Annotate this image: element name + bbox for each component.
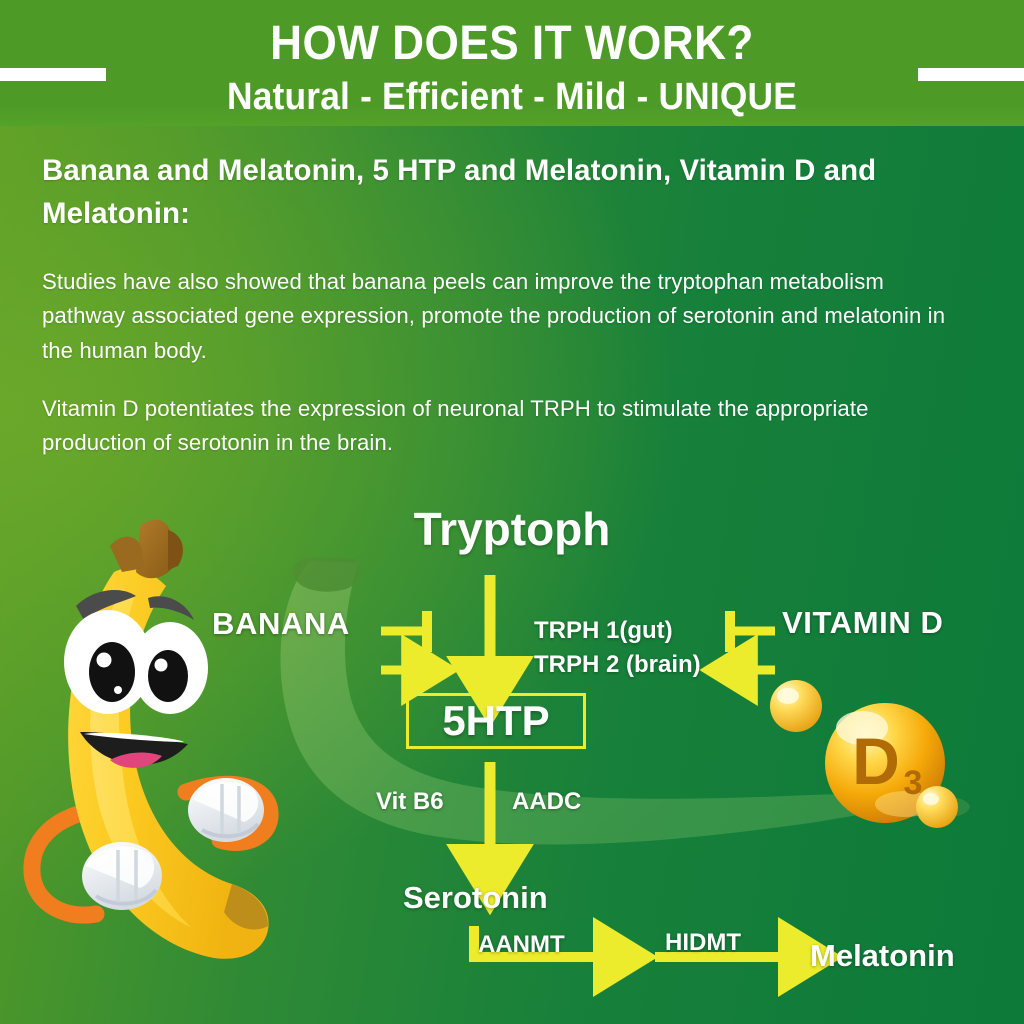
- copy-heading: Banana and Melatonin, 5 HTP and Melatoni…: [42, 150, 963, 235]
- copy-paragraph-1: Studies have also showed that banana pee…: [42, 265, 968, 368]
- mascot-pupil-left: [89, 642, 135, 702]
- body-copy: Banana and Melatonin, 5 HTP and Melatoni…: [42, 150, 982, 484]
- mascot-glove-right: [188, 778, 264, 842]
- vitd-droplet-small-top: [770, 680, 822, 732]
- banana-mascot: [18, 510, 328, 970]
- label-trph-brain: TRPH 2 (brain): [534, 651, 701, 679]
- label-melatonin: Melatonin: [810, 938, 955, 974]
- header-title: HOW DOES IT WORK?: [41, 16, 983, 71]
- label-vitamin-d: VITAMIN D: [782, 605, 944, 641]
- label-aanmt: AANMT: [478, 931, 565, 959]
- mascot-glove-left: [82, 842, 162, 910]
- header-banner: HOW DOES IT WORK? Natural - Efficient - …: [0, 0, 1024, 126]
- node-5htp-box: 5HTP: [406, 693, 586, 749]
- label-trph-gut: TRPH 1(gut): [534, 617, 673, 645]
- infographic-page: HOW DOES IT WORK? Natural - Efficient - …: [0, 0, 1024, 1024]
- node-5htp-label: 5HTP: [442, 700, 549, 742]
- vitd-sphere-letter: D: [852, 724, 900, 798]
- label-vit-b6: Vit B6: [376, 788, 444, 816]
- vitd-droplet-small-bottom: [916, 786, 958, 828]
- label-hidmt: HIDMT: [665, 929, 741, 957]
- mascot-eyebrow-right: [148, 596, 194, 620]
- pathway-diagram: Tryptoph: [0, 480, 1024, 1024]
- copy-paragraph-2: Vitamin D potentiates the expression of …: [42, 392, 968, 460]
- label-serotonin: Serotonin: [403, 880, 548, 916]
- mascot-pupil-right: [148, 650, 188, 702]
- header-subtitle: Natural - Efficient - Mild - UNIQUE: [36, 76, 988, 119]
- vitamin-d-art: D 3: [755, 670, 985, 845]
- mascot-stem-right: [168, 530, 183, 570]
- label-aadc: AADC: [512, 788, 581, 816]
